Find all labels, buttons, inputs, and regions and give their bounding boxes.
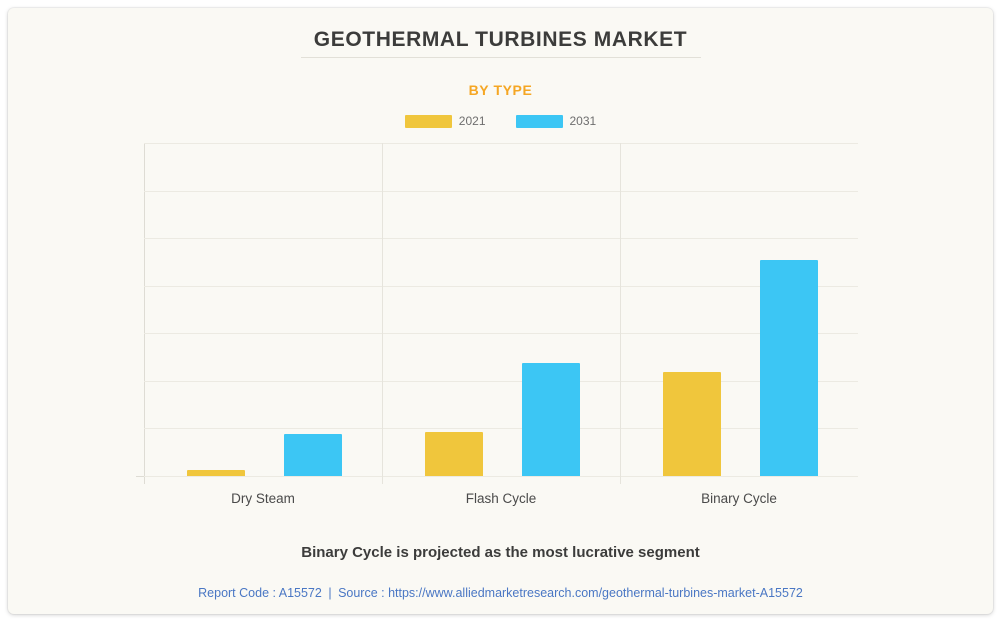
legend-item-2021[interactable]: 2021 <box>405 114 486 128</box>
x-axis-label-binary-cycle: Binary Cycle <box>619 491 859 506</box>
chart-legend: 2021 2031 <box>8 114 993 128</box>
bar-dry-steam-2021[interactable] <box>187 470 245 476</box>
legend-label-2031: 2031 <box>570 114 597 128</box>
gridline <box>144 286 858 287</box>
gridline <box>144 238 858 239</box>
category-separator <box>382 143 383 484</box>
category-separator <box>620 143 621 484</box>
bar-binary-cycle-2021[interactable] <box>663 372 721 476</box>
x-axis-label-flash-cycle: Flash Cycle <box>381 491 621 506</box>
chart-subtitle: BY TYPE <box>8 82 993 98</box>
plot-area: Dry SteamFlash CycleBinary Cycle <box>144 143 858 476</box>
gridline <box>144 143 858 144</box>
legend-swatch-2031 <box>516 115 563 128</box>
x-axis-label-dry-steam: Dry Steam <box>143 491 383 506</box>
source-separator: | <box>325 586 334 600</box>
y-axis-line <box>144 143 145 484</box>
page-title: GEOTHERMAL TURBINES MARKET <box>8 28 993 52</box>
gridline <box>144 191 858 192</box>
bar-dry-steam-2031[interactable] <box>284 434 342 476</box>
source-link[interactable]: Source : https://www.alliedmarketresearc… <box>338 586 803 600</box>
legend-label-2021: 2021 <box>459 114 486 128</box>
gridline <box>144 333 858 334</box>
gridline <box>144 381 858 382</box>
chart-card: GEOTHERMAL TURBINES MARKET BY TYPE 2021 … <box>8 8 993 614</box>
source-line: Report Code : A15572 | Source : https://… <box>8 586 993 600</box>
legend-item-2031[interactable]: 2031 <box>516 114 597 128</box>
report-code-label: Report Code : A15572 <box>198 586 322 600</box>
bar-flash-cycle-2021[interactable] <box>425 432 483 476</box>
bar-binary-cycle-2031[interactable] <box>760 260 818 476</box>
title-divider <box>301 57 701 58</box>
legend-swatch-2021 <box>405 115 452 128</box>
gridline <box>144 428 858 429</box>
chart-caption: Binary Cycle is projected as the most lu… <box>8 544 993 561</box>
gridline <box>144 476 858 477</box>
bar-flash-cycle-2031[interactable] <box>522 363 580 476</box>
